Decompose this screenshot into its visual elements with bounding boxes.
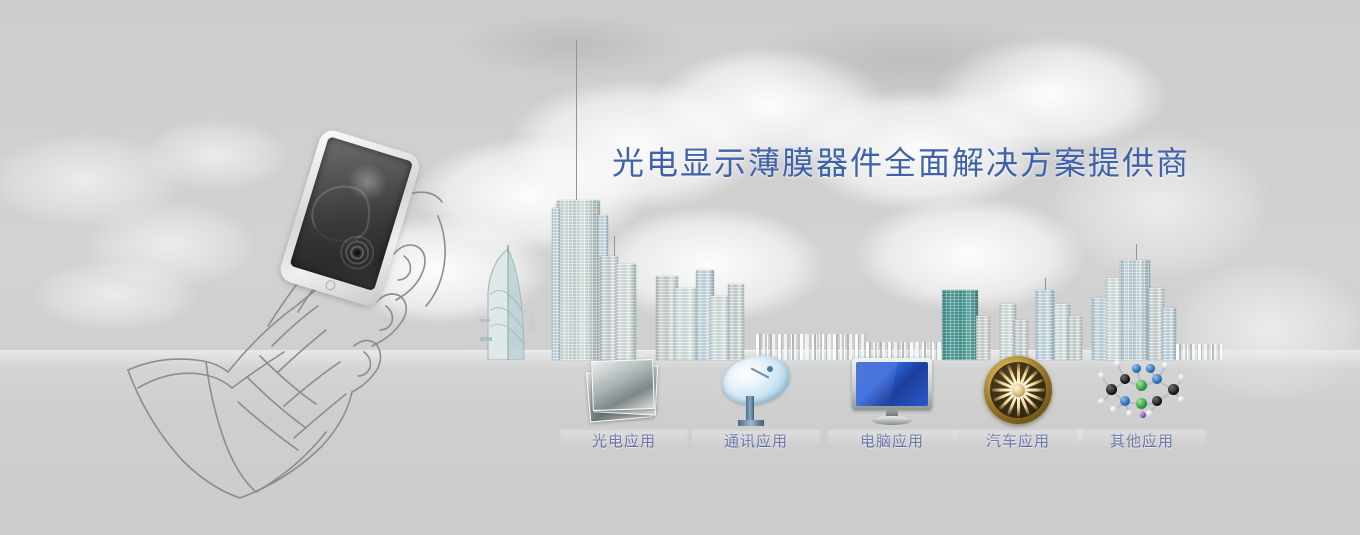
- molecule-atom: [1178, 396, 1185, 403]
- glass-panel-stack-icon: [560, 352, 688, 430]
- molecule-atom: [1162, 362, 1169, 369]
- satellite-dish-icon: [692, 352, 820, 430]
- tower-antenna: [1045, 278, 1046, 290]
- molecule-atom: [1114, 360, 1121, 367]
- tower-antenna: [614, 236, 615, 256]
- molecule-atom: [1136, 398, 1147, 409]
- application-list: 光电应用 通讯应用: [560, 352, 1200, 462]
- molecule-atom: [1168, 384, 1179, 395]
- molecule-atom: [1120, 374, 1130, 384]
- application-item-communication[interactable]: 通讯应用: [692, 352, 820, 462]
- molecule-atom: [1132, 364, 1141, 373]
- application-item-other[interactable]: 其他应用: [1078, 352, 1206, 462]
- molecule-atom: [1152, 396, 1162, 406]
- page-title: 光电显示薄膜器件全面解决方案提供商: [612, 138, 1190, 184]
- molecule-atom: [1146, 364, 1155, 373]
- home-button: [324, 279, 336, 291]
- tower-antenna: [576, 40, 577, 200]
- hero-banner: 光电显示薄膜器件全面解决方案提供商 光电应用 通讯应: [0, 0, 1360, 535]
- molecule-atom: [1106, 384, 1117, 395]
- molecule-atom: [1098, 398, 1105, 405]
- molecule-atom: [1110, 406, 1117, 413]
- molecule-atom: [1178, 374, 1185, 381]
- molecule-atom: [1140, 412, 1146, 418]
- tower-antenna: [1136, 244, 1137, 260]
- molecule-atom: [1126, 410, 1133, 417]
- alloy-wheel-icon: [954, 352, 1082, 430]
- molecule-icon: [1078, 352, 1206, 430]
- molecule-atom: [1136, 380, 1147, 391]
- molecule-atom: [1152, 374, 1162, 384]
- molecule-atom: [1146, 410, 1153, 417]
- application-item-automotive[interactable]: 汽车应用: [954, 352, 1082, 462]
- application-item-optoelectronic[interactable]: 光电应用: [560, 352, 688, 462]
- molecule-atom: [1120, 396, 1130, 406]
- application-item-computer[interactable]: 电脑应用: [828, 352, 956, 462]
- molecule-atom: [1098, 372, 1105, 379]
- monitor-icon: [828, 352, 956, 430]
